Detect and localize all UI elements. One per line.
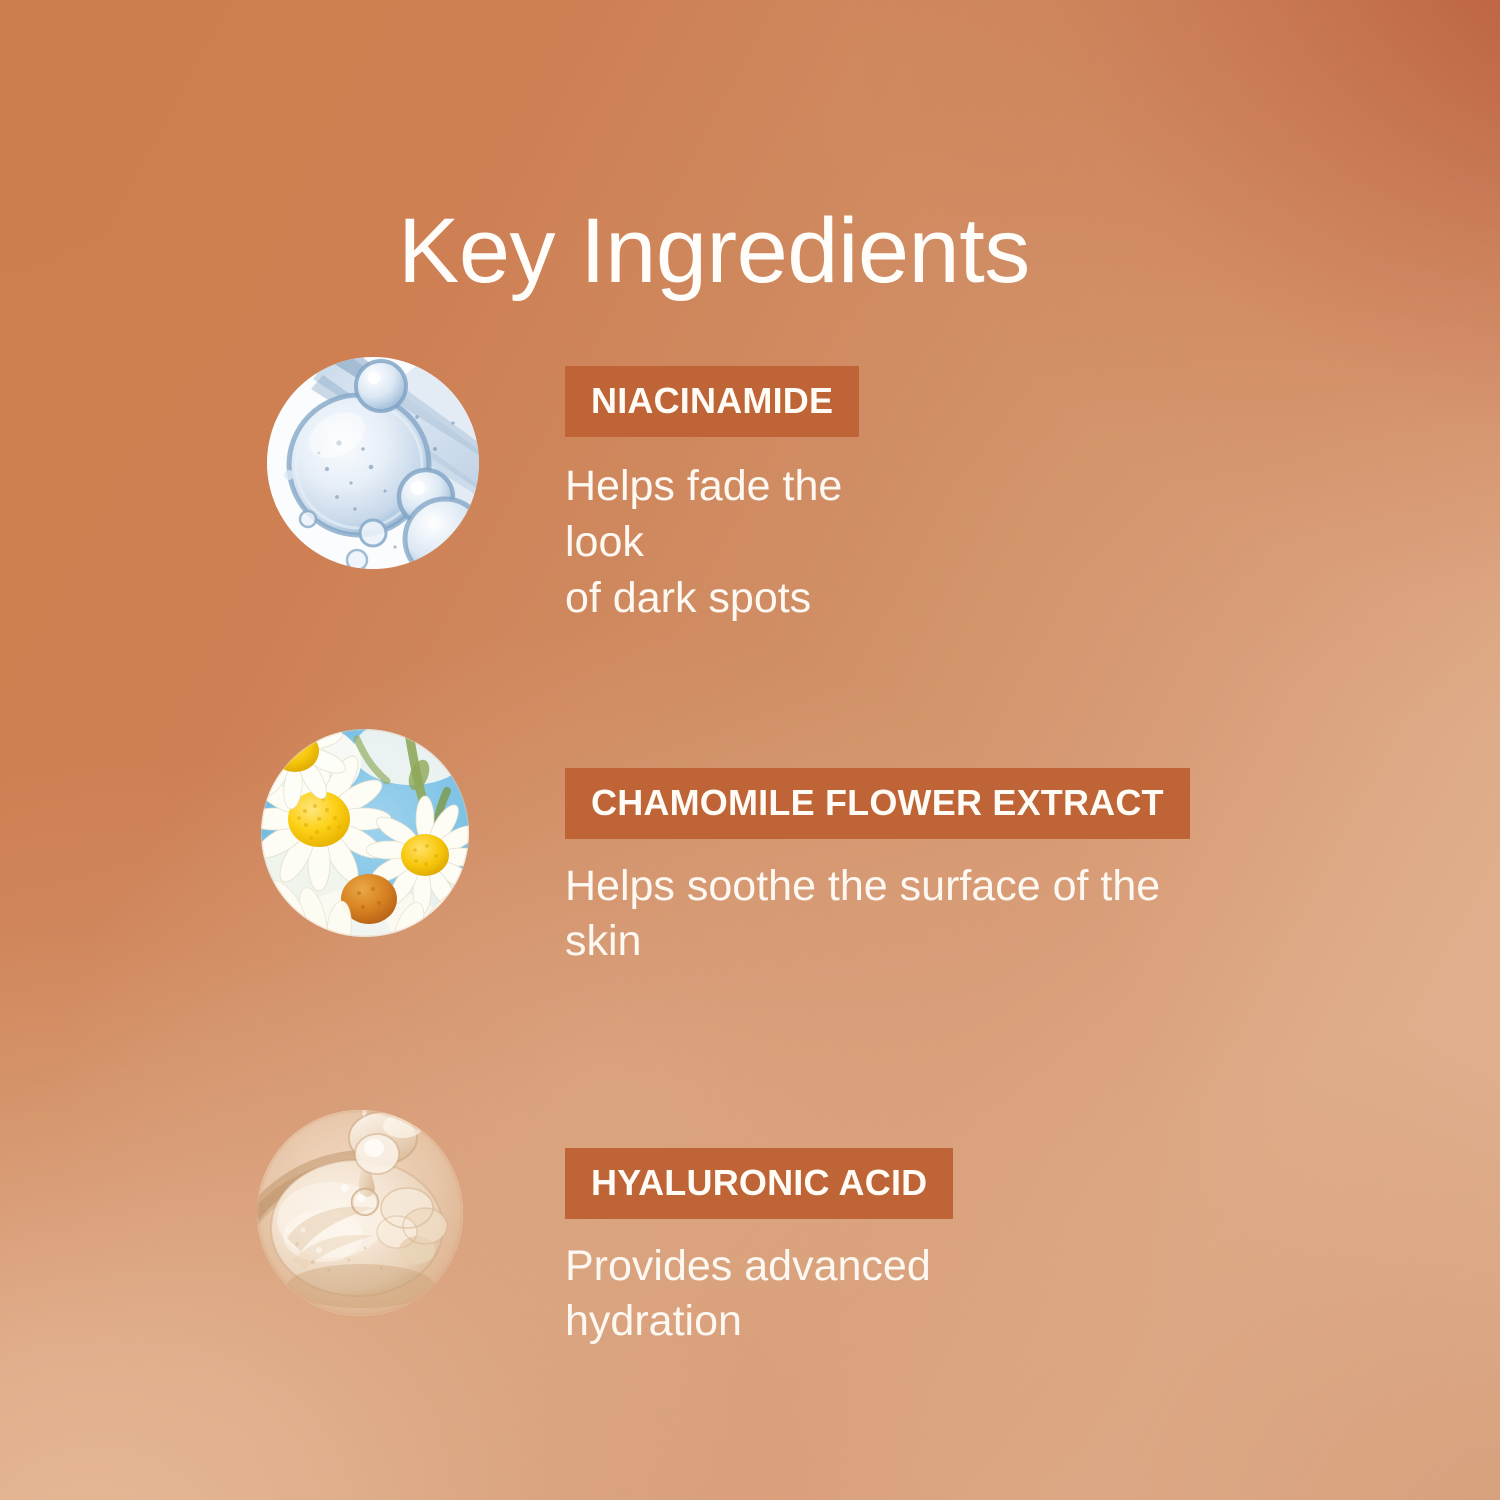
page-title: Key Ingredients [398, 202, 1030, 301]
ingredient-label-hyaluronic-acid: HYALURONIC ACID [565, 1148, 953, 1219]
ingredient-text-niacinamide: NIACINAMIDE Helps fade the look of dark … [565, 366, 859, 627]
ingredient-label-chamomile: CHAMOMILE FLOWER EXTRACT [565, 768, 1190, 839]
ingredient-description-niacinamide: Helps fade the look of dark spots [565, 459, 859, 627]
ingredient-label-niacinamide: NIACINAMIDE [565, 366, 859, 437]
ingredient-description-chamomile: Helps soothe the surface of the skin [565, 859, 1190, 969]
ingredient-image-niacinamide [267, 357, 479, 569]
ingredient-image-hyaluronic-acid [257, 1110, 463, 1316]
ingredient-text-chamomile: CHAMOMILE FLOWER EXTRACT Helps soothe th… [565, 768, 1190, 969]
ingredient-text-hyaluronic-acid: HYALURONIC ACID Provides advanced hydrat… [565, 1148, 953, 1349]
ingredient-description-hyaluronic-acid: Provides advanced hydration [565, 1239, 953, 1349]
key-ingredients-infographic: Key Ingredients [0, 0, 1500, 1500]
ingredient-image-chamomile [261, 729, 469, 937]
